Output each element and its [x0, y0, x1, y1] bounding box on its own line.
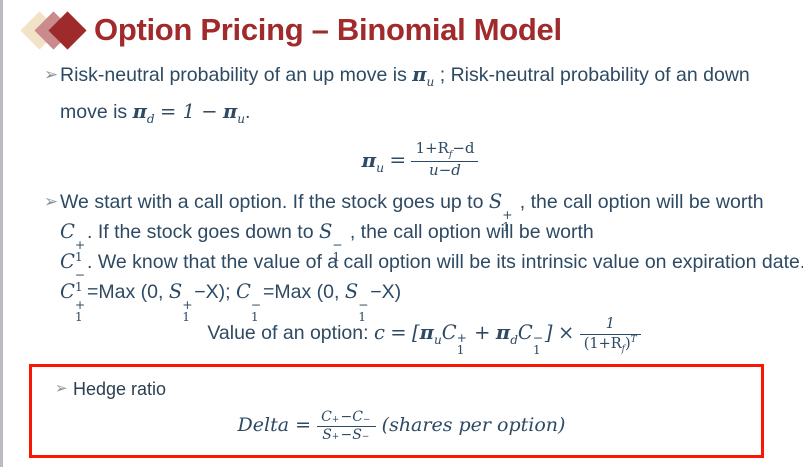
pi-u2-symbol: π — [223, 100, 237, 123]
pi-d-symbol: π — [133, 100, 147, 123]
formula-pi-u-lhs: π — [362, 148, 377, 172]
symbol-C1-minus: C−1 — [60, 247, 87, 277]
formula-pi-u-lhs-sub: u — [376, 160, 384, 175]
pi-d-subscript: d — [147, 112, 155, 126]
formula-delta-equals: = — [295, 414, 311, 436]
bullet2-s5: . We know that the value of a call optio… — [87, 251, 803, 273]
formula-times: × — [558, 321, 574, 344]
hedge-ratio-heading-row: ➢ Hedge ratio — [43, 377, 761, 401]
bullet-text: We start with a call option. If the stoc… — [60, 187, 803, 307]
slide: Option Pricing – Binomial Model ➢ Risk-n… — [0, 0, 803, 467]
symbol-C1-plus-eq: C+1 — [60, 277, 87, 307]
symbol-C-plus: C+ — [321, 409, 340, 426]
bullet-arrow-icon: ➢ — [30, 60, 60, 90]
hedge-ratio-label: Hedge ratio — [73, 377, 166, 401]
slide-title-row: Option Pricing – Binomial Model — [26, 6, 562, 54]
symbol-S-plus: S+ — [322, 427, 340, 444]
formula-delta-note: (shares per option) — [382, 414, 566, 436]
formula-pi-u-numerator: 1+Rf−d — [411, 140, 478, 161]
symbol-S1-plus: S+1 — [489, 187, 514, 217]
formula-discount-fraction: 1 (1+Rf)T — [580, 316, 641, 354]
symbol-C-minus: C− — [352, 409, 371, 426]
bullet2-s4: , the call option will be worth — [350, 221, 594, 243]
hedge-ratio-callout-box: ➢ Hedge ratio Delta = C+−C− S+−S− (share… — [29, 364, 764, 458]
bullet2-minusX2: −X) — [370, 281, 401, 303]
formula-discount-denominator: (1+Rf)T — [580, 334, 641, 355]
slide-left-edge — [0, 0, 3, 467]
formula-delta-lhs: Delta — [238, 414, 290, 436]
bullet2-minusX1: −X); — [194, 281, 230, 303]
bullet2-s1: We start with a call option. If the stoc… — [60, 191, 483, 213]
bullet1-equals: = 1 − — [160, 100, 217, 123]
formula-delta-fraction: C+−C− S+−S− — [317, 409, 376, 443]
formula-delta: Delta = C+−C− S+−S− (shares per option) — [32, 409, 761, 443]
formula-pi-u: πu = 1+Rf−d u−d — [30, 140, 790, 180]
slide-body: ➢ Risk-neutral probability of an up move… — [30, 60, 790, 355]
pi-u-symbol: π — [412, 63, 426, 86]
formula-option-value-equals: = — [390, 321, 406, 344]
symbol-C1-plus: C+1 — [60, 217, 87, 247]
formula-pi-u-denominator: u−d — [411, 161, 478, 180]
formula-open-bracket: [ — [412, 321, 420, 344]
bullet1-part1: Risk-neutral probability of an up move i… — [60, 64, 407, 86]
formula-pi-d2: π — [496, 321, 510, 344]
formula-close-bracket: ] — [545, 321, 553, 344]
bullet-call-option-payoff: ➢ We start with a call option. If the st… — [30, 187, 790, 307]
bullet2-max2: =Max (0, — [263, 281, 339, 303]
symbol-S1-plus-max: S+1 — [169, 277, 194, 307]
bullet2-max1: =Max (0, — [87, 281, 163, 303]
formula-option-value: Value of an option: c = [πuC+1 + πdC−1] … — [30, 316, 790, 354]
bullet-risk-neutral-probability: ➢ Risk-neutral probability of an up move… — [30, 60, 790, 134]
symbol-S1-minus-max: S−1 — [345, 277, 370, 307]
formula-delta-numerator: C+−C− — [317, 409, 376, 426]
formula-option-value-lhs: c — [374, 321, 385, 344]
symbol-S-minus: S− — [352, 427, 370, 444]
bullet1-period: . — [245, 101, 250, 123]
bullet2-s3: . If the stock goes down to — [87, 221, 314, 243]
bullet-arrow-icon: ➢ — [30, 187, 60, 217]
symbol-C1-plus-value: C+1 — [442, 321, 469, 344]
symbol-S1-minus: S−1 — [319, 217, 344, 247]
formula-option-value-label: Value of an option: — [207, 322, 368, 344]
formula-plus: + — [474, 321, 490, 344]
pi-u2-subscript: u — [237, 112, 245, 126]
symbol-C1-minus-eq: C−1 — [236, 277, 263, 307]
formula-pi-u-fraction: 1+Rf−d u−d — [411, 140, 478, 180]
formula-delta-denominator: S+−S− — [317, 426, 376, 444]
bullet2-s2: , the call option will be worth — [520, 191, 764, 213]
diamond-logo-icon — [26, 8, 92, 52]
formula-pi-u-equals: = — [389, 148, 406, 172]
formula-pi-u2: π — [420, 321, 434, 344]
bullet-text: Risk-neutral probability of an up move i… — [60, 60, 790, 134]
page-title: Option Pricing – Binomial Model — [94, 12, 562, 48]
pi-u-subscript: u — [427, 75, 435, 89]
formula-discount-numerator: 1 — [580, 316, 641, 333]
bullet-arrow-icon: ➢ — [43, 377, 73, 401]
symbol-C1-minus-value: C−1 — [518, 321, 545, 344]
